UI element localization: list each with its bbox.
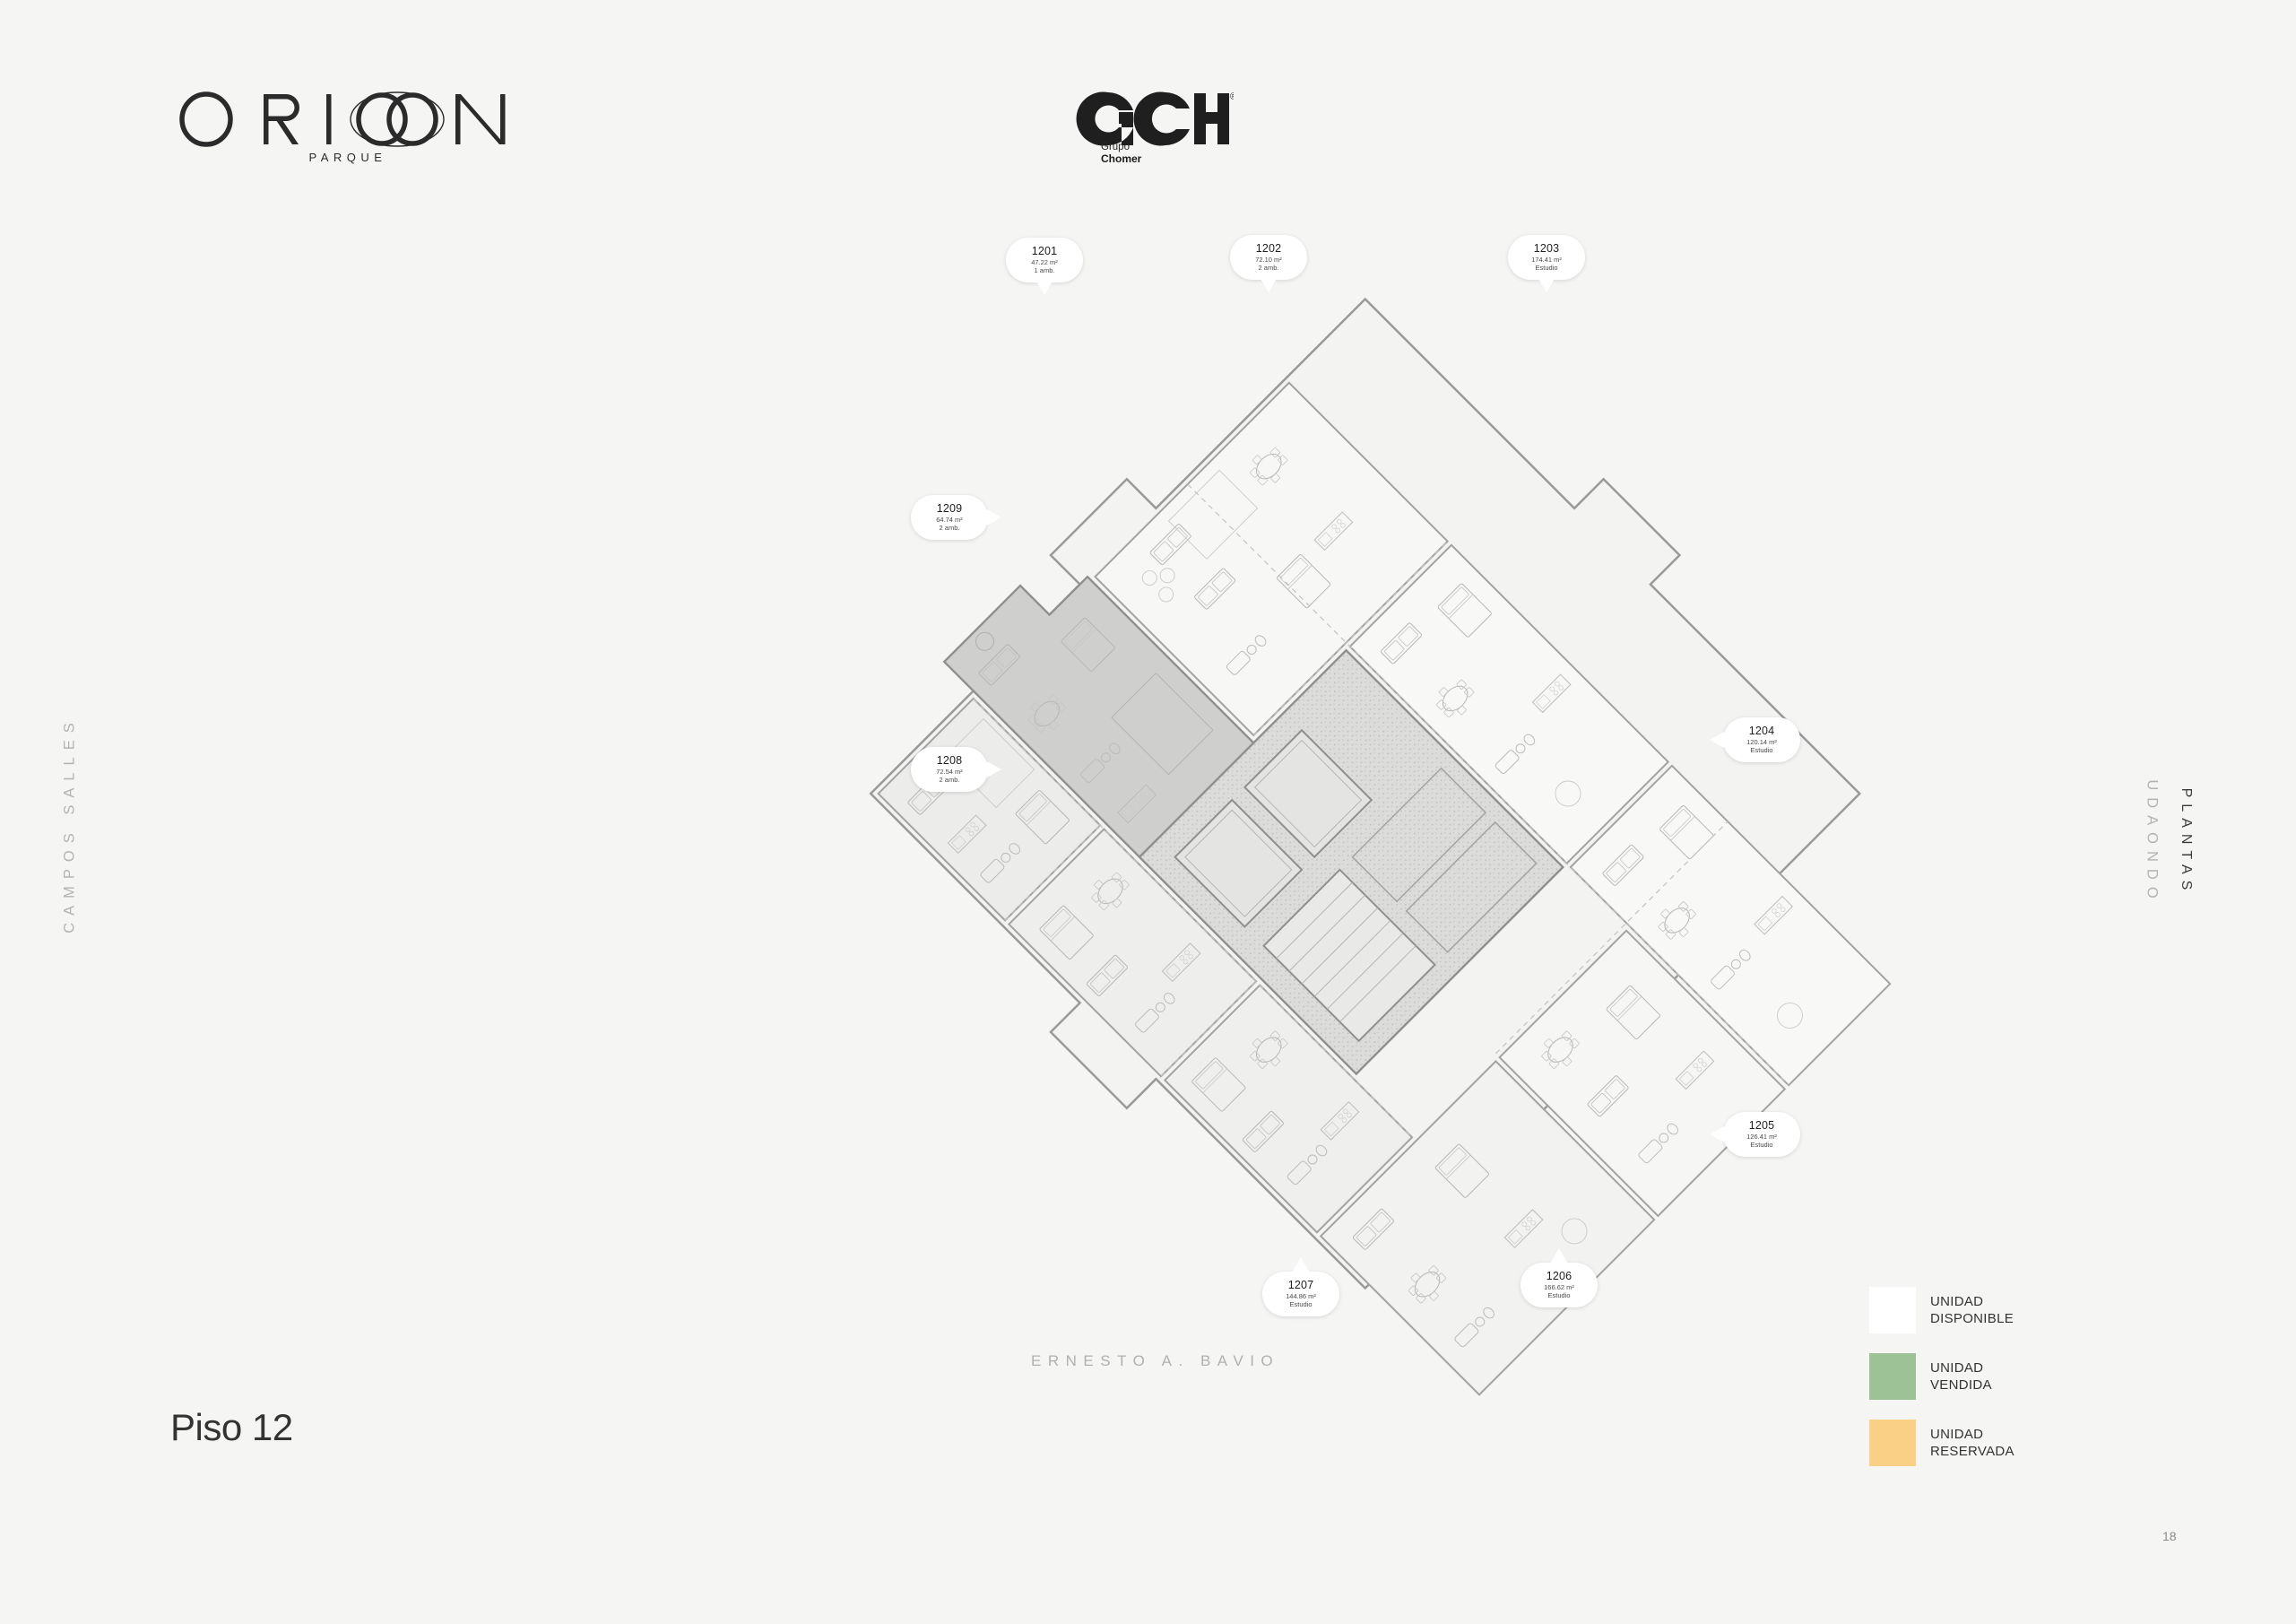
unit-marker-1208-id: 1208: [937, 755, 963, 767]
gch-tagline-line2: Chomer: [1101, 153, 1141, 166]
orion-logo: [178, 79, 518, 160]
legend-label-reservada: UNIDAD RESERVADA: [1930, 1426, 2014, 1460]
unit-marker-1208-bubble[interactable]: 1208 72.54 m² 2 amb.: [911, 747, 988, 792]
unit-marker-1209-pointer: [987, 509, 1001, 525]
legend-swatch-disponible: [1869, 1287, 1916, 1333]
unit-marker-1207-area: 144.86 m²: [1286, 1292, 1316, 1300]
unit-marker-1209-id: 1209: [937, 503, 963, 515]
unit-marker-1203-area: 174.41 m²: [1531, 256, 1562, 264]
unit-marker-1203-id: 1203: [1534, 243, 1560, 255]
unit-marker-1206-bubble[interactable]: 1206 166.62 m² Estudio: [1521, 1263, 1598, 1307]
unit-marker-1204-id: 1204: [1749, 725, 1775, 737]
unit-marker-1207-bubble[interactable]: 1207 144.86 m² Estudio: [1262, 1272, 1339, 1316]
unit-marker-1206[interactable]: 1206 166.62 m² Estudio: [1521, 1263, 1598, 1318]
legend-label-reservada-line1: UNIDAD: [1930, 1426, 2014, 1443]
unit-marker-1202[interactable]: 1202 72.10 m² 2 amb.: [1230, 235, 1307, 291]
unit-marker-1205-type: Estudio: [1750, 1141, 1772, 1149]
unit-marker-1204-area: 120.14 m²: [1746, 738, 1777, 746]
unit-marker-1208-pointer: [987, 761, 1001, 777]
orion-logo-subtitle: PARQUE: [178, 151, 518, 164]
floor-plan-drawing: [914, 229, 2044, 1359]
unit-marker-1202-pointer: [1260, 277, 1278, 292]
unit-marker-1209[interactable]: 1209 64.74 m² 2 amb.: [911, 495, 988, 551]
legend-item-vendida: UNIDAD VENDIDA: [1869, 1353, 2014, 1400]
legend-label-vendida-line1: UNIDAD: [1930, 1359, 1992, 1376]
unit-marker-1201-bubble[interactable]: 1201 47.22 m² 1 amb.: [1006, 238, 1083, 282]
unit-marker-1205-id: 1205: [1749, 1120, 1775, 1132]
unit-marker-1202-type: 2 amb.: [1259, 264, 1279, 272]
unit-marker-1203-pointer: [1538, 277, 1555, 292]
unit-marker-1205-pointer: [1710, 1126, 1724, 1142]
legend-label-disponible-line1: UNIDAD: [1930, 1293, 2014, 1310]
unit-marker-1207-id: 1207: [1288, 1280, 1314, 1291]
legend-label-vendida-line2: VENDIDA: [1930, 1376, 1992, 1394]
unit-marker-1201-id: 1201: [1032, 246, 1058, 257]
legend-label-reservada-line2: RESERVADA: [1930, 1443, 2014, 1460]
unit-marker-1209-bubble[interactable]: 1209 64.74 m² 2 amb.: [911, 495, 988, 540]
unit-marker-1201-area: 47.22 m²: [1031, 258, 1058, 266]
page-title: Piso 12: [170, 1406, 293, 1449]
legend-swatch-reservada: [1869, 1420, 1916, 1466]
unit-marker-1205-bubble[interactable]: 1205 126.41 m² Estudio: [1723, 1112, 1800, 1157]
street-label-left: CAMPOS SALLES: [62, 708, 79, 942]
gch-logo-tagline: Grupo Chomer: [1101, 142, 1141, 166]
gch-logo: ®: [1072, 85, 1234, 152]
unit-marker-1208-area: 72.54 m²: [936, 768, 963, 776]
unit-marker-1209-area: 64.74 m²: [936, 516, 963, 524]
unit-marker-1208-type: 2 amb.: [940, 776, 960, 784]
street-label-right: UDAONDO: [2144, 726, 2161, 960]
legend-item-disponible: UNIDAD DISPONIBLE: [1869, 1287, 2014, 1333]
section-label-plantas: PLANTAS: [2178, 752, 2194, 932]
unit-marker-1206-id: 1206: [1547, 1271, 1573, 1282]
unit-marker-1201[interactable]: 1201 47.22 m² 1 amb.: [1006, 238, 1083, 293]
unit-marker-1202-id: 1202: [1256, 243, 1282, 255]
brochure-page: PARQUE ® Grupo Chomer CAMPOS SALLES UDAO…: [0, 0, 2296, 1624]
unit-marker-1206-area: 166.62 m²: [1544, 1283, 1574, 1291]
unit-marker-1204[interactable]: 1204 120.14 m² Estudio: [1723, 717, 1800, 773]
unit-marker-1203-bubble[interactable]: 1203 174.41 m² Estudio: [1508, 235, 1585, 280]
legend-label-disponible: UNIDAD DISPONIBLE: [1930, 1293, 2014, 1327]
unit-marker-1207[interactable]: 1207 144.86 m² Estudio: [1262, 1272, 1339, 1327]
unit-marker-1202-area: 72.10 m²: [1255, 256, 1282, 264]
status-legend: UNIDAD DISPONIBLE UNIDAD VENDIDA UNIDAD …: [1869, 1287, 2014, 1486]
unit-marker-1207-type: Estudio: [1289, 1300, 1312, 1308]
legend-item-reservada: UNIDAD RESERVADA: [1869, 1420, 2014, 1466]
unit-marker-1205-area: 126.41 m²: [1746, 1133, 1777, 1141]
unit-marker-1203[interactable]: 1203 174.41 m² Estudio: [1508, 235, 1585, 291]
legend-label-disponible-line2: DISPONIBLE: [1930, 1310, 2014, 1327]
unit-marker-1207-pointer: [1292, 1257, 1310, 1272]
unit-marker-1209-type: 2 amb.: [940, 524, 960, 532]
page-number: 18: [2162, 1529, 2177, 1543]
unit-marker-1201-pointer: [1035, 280, 1053, 295]
unit-marker-1204-type: Estudio: [1750, 746, 1772, 754]
unit-marker-1205[interactable]: 1205 126.41 m² Estudio: [1723, 1112, 1800, 1168]
unit-marker-1201-type: 1 amb.: [1035, 266, 1055, 274]
unit-marker-1203-type: Estudio: [1535, 264, 1557, 272]
unit-marker-1208[interactable]: 1208 72.54 m² 2 amb.: [911, 747, 988, 803]
unit-marker-1204-pointer: [1710, 732, 1724, 748]
svg-text:®: ®: [1230, 91, 1234, 102]
legend-swatch-vendida: [1869, 1353, 1916, 1400]
legend-label-vendida: UNIDAD VENDIDA: [1930, 1359, 1992, 1394]
unit-marker-1206-pointer: [1550, 1248, 1568, 1264]
unit-marker-1206-type: Estudio: [1547, 1291, 1570, 1299]
unit-marker-1204-bubble[interactable]: 1204 120.14 m² Estudio: [1723, 717, 1800, 762]
unit-marker-1202-bubble[interactable]: 1202 72.10 m² 2 amb.: [1230, 235, 1307, 280]
